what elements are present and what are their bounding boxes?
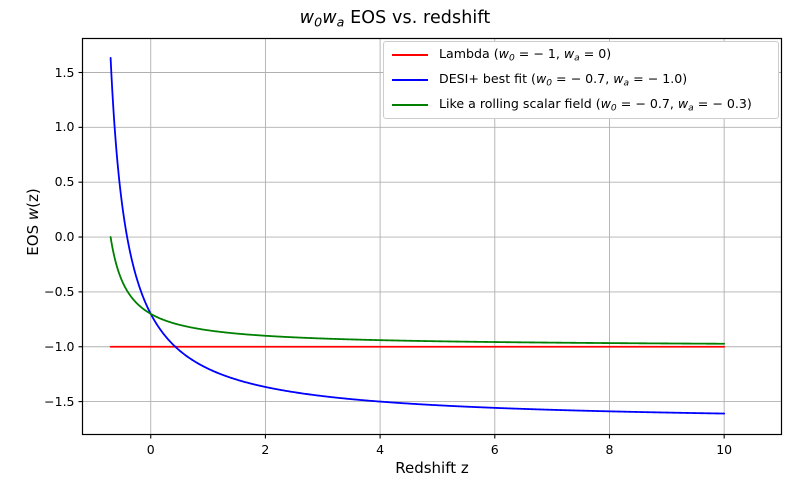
chart-figure: w0wa EOS vs. redshift 1.51.00.50.0−0.5−1… — [0, 0, 790, 490]
x-tick-label: 4 — [360, 442, 400, 457]
x-tick-label: 10 — [704, 442, 744, 457]
y-tick-label: −1.5 — [23, 394, 75, 409]
legend-item-1[interactable]: DESI+ best fit (w0 = − 0.7, wa = − 1.0) — [384, 67, 778, 92]
x-tick-label: 6 — [475, 442, 515, 457]
legend-color-swatch — [392, 104, 428, 106]
legend-color-swatch — [392, 54, 428, 56]
legend-label: Like a rolling scalar field (w0 = − 0.7,… — [439, 96, 752, 114]
x-tick-label: 0 — [131, 442, 171, 457]
x-tick-label: 2 — [245, 442, 285, 457]
y-axis-label-math-w: w — [24, 208, 42, 220]
x-tick-label: 8 — [589, 442, 629, 457]
legend-label: DESI+ best fit (w0 = − 0.7, wa = − 1.0) — [439, 71, 687, 89]
series-line-2 — [111, 237, 725, 344]
y-axis-label: EOS w(z) — [24, 102, 42, 342]
x-axis-label: Redshift z — [82, 459, 782, 477]
legend-label: Lambda (w0 = − 1, wa = 0) — [439, 46, 611, 64]
y-tick-label: 1.5 — [23, 65, 75, 80]
legend[interactable]: Lambda (w0 = − 1, wa = 0)DESI+ best fit … — [383, 41, 779, 119]
legend-item-0[interactable]: Lambda (w0 = − 1, wa = 0) — [384, 42, 778, 67]
legend-item-2[interactable]: Like a rolling scalar field (w0 = − 0.7,… — [384, 92, 778, 117]
legend-color-swatch — [392, 79, 428, 81]
y-axis-label-plain: EOS — [24, 220, 42, 256]
y-axis-label-math-rest: (z) — [24, 188, 42, 208]
